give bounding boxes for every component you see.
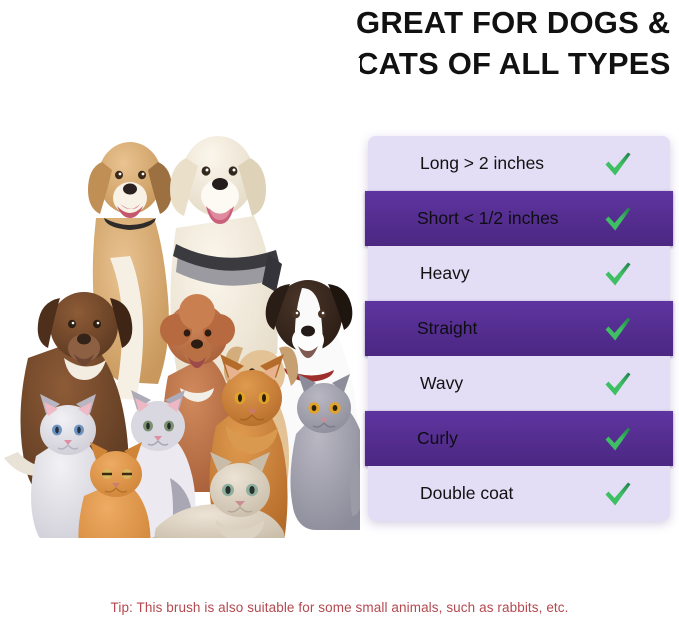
table-row[interactable]: Wavy	[368, 356, 670, 411]
check-icon	[604, 206, 632, 232]
check-icon	[604, 481, 632, 507]
check-icon	[604, 426, 632, 452]
coat-type-label: Double coat	[368, 483, 513, 504]
table-row[interactable]: Heavy	[368, 246, 670, 301]
check-icon	[604, 316, 632, 342]
coat-type-label: Long > 2 inches	[368, 153, 544, 174]
table-rows: Long > 2 inchesShort < 1/2 inchesHeavySt…	[368, 136, 670, 521]
table-row[interactable]: Double coat	[368, 466, 670, 521]
coat-type-label: Short < 1/2 inches	[365, 208, 559, 229]
product-feature-panel: GREAT FOR DOGS & CATS OF ALL TYPES	[0, 0, 679, 627]
table-row[interactable]: Short < 1/2 inches	[365, 191, 673, 246]
coat-type-label: Curly	[365, 428, 458, 449]
coat-type-label: Heavy	[368, 263, 470, 284]
tip-text: Tip: This brush is also suitable for som…	[0, 600, 679, 615]
table-row[interactable]: Long > 2 inches	[368, 136, 670, 191]
check-icon	[604, 371, 632, 397]
coat-type-label: Straight	[365, 318, 477, 339]
check-icon	[604, 151, 632, 177]
coat-type-label: Wavy	[368, 373, 463, 394]
table-row[interactable]: Curly	[365, 411, 673, 466]
coat-type-table: Long > 2 inchesShort < 1/2 inchesHeavySt…	[368, 136, 670, 521]
check-icon	[604, 261, 632, 287]
animal-collage-photo	[0, 58, 360, 538]
page-title: GREAT FOR DOGS & CATS OF ALL TYPES	[356, 2, 674, 84]
table-row[interactable]: Straight	[365, 301, 673, 356]
